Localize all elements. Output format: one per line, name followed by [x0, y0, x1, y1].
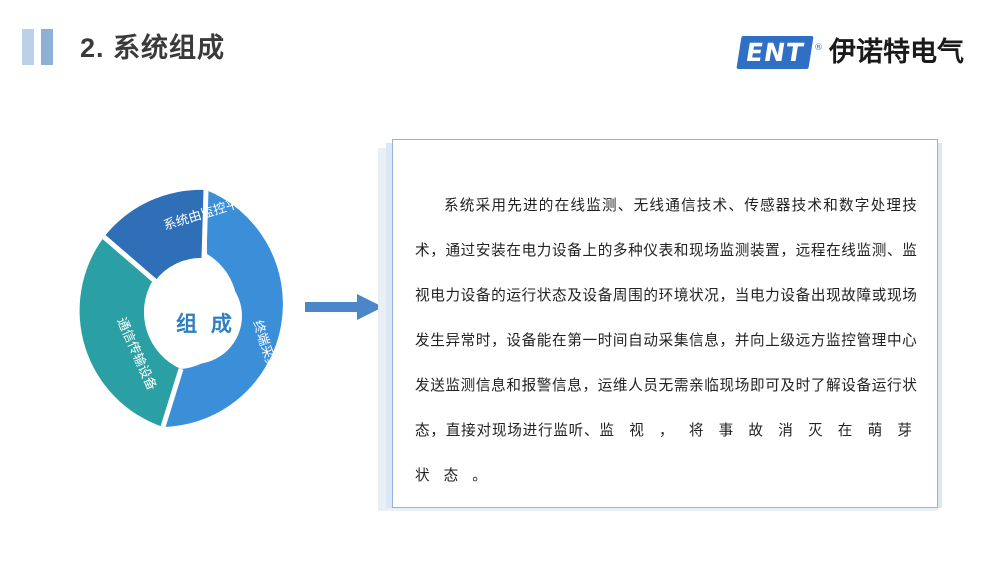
- title-accent-bars: [22, 29, 53, 65]
- registered-trademark-icon: ®: [814, 43, 823, 53]
- accent-bar-light: [22, 29, 34, 65]
- description-text: 系统采用先进的在线监测、无线通信技术、传感器技术和数字处理技术，通过安装在电力设…: [415, 184, 917, 499]
- description-line-1: 系统采用先进的在线监测、无线通信技术、传感器技术和数字处: [444, 198, 886, 214]
- logo-brand-name: 伊诺特电气: [829, 37, 964, 67]
- brand-logo: ENT ® 伊诺特电气: [739, 34, 964, 70]
- logo-mark: ENT: [736, 36, 813, 69]
- donut-svg: 系统由监控平台 通信传输设备 终端采集设备组成: [57, 168, 327, 458]
- slide-root: 2. 系统组成 ENT ® 伊诺特电气 系统由监控平台 通信传输设备: [0, 0, 1000, 563]
- description-card: 系统采用先进的在线监测、无线通信技术、传感器技术和数字处理技术，通过安装在电力设…: [392, 139, 938, 508]
- composition-donut-diagram: 系统由监控平台 通信传输设备 终端采集设备组成 组 成: [57, 168, 327, 458]
- flow-arrow-icon: [305, 294, 385, 320]
- accent-bar-dark: [41, 29, 53, 65]
- donut-divider-2: [204, 190, 206, 258]
- page-title: 2. 系统组成: [80, 30, 225, 66]
- logo-mark-text: ENT: [744, 39, 806, 66]
- donut-hole: [146, 268, 242, 364]
